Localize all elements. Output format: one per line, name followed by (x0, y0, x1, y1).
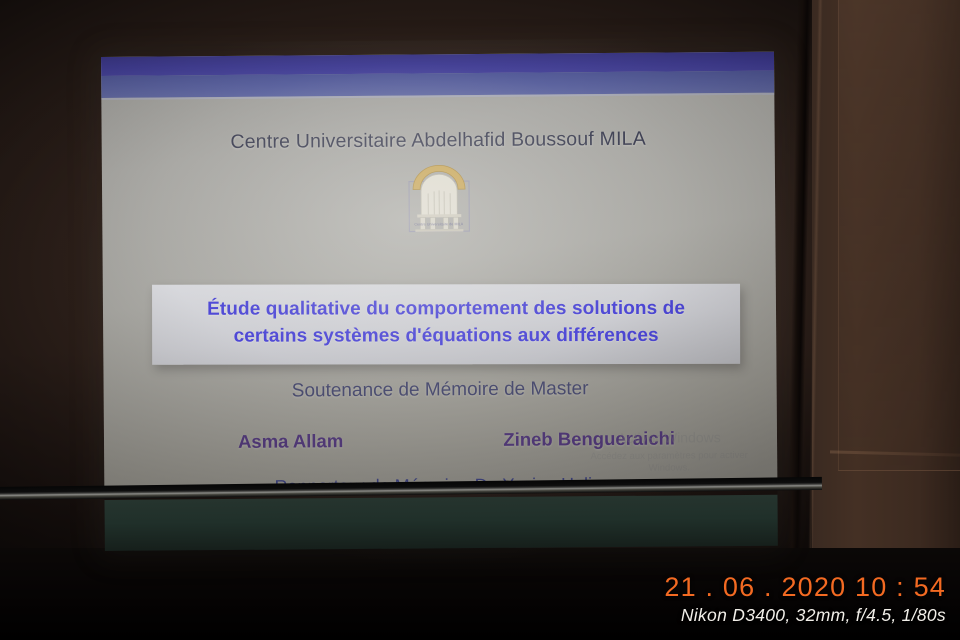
exif-camera-info: Nikon D3400, 32mm, f/4.5, 1/80s (664, 605, 946, 626)
slide-subtitle: Soutenance de Mémoire de Master (104, 377, 777, 404)
exif-timestamp: 21 . 06 . 2020 10 : 54 (664, 572, 946, 603)
university-name: Centre Universitaire Abdelhafid Boussouf… (102, 127, 775, 155)
projection-screen: Centre Universitaire Abdelhafid Boussouf… (101, 52, 778, 551)
slide-title-line-1: Étude qualitative du comportement des so… (168, 296, 724, 324)
screen-lower-area (104, 495, 777, 551)
photograph: Centre Universitaire Abdelhafid Boussouf… (0, 0, 960, 640)
wall-panel (838, 0, 960, 471)
watermark-subtitle: Accédez aux paramètres pour activer Wind… (583, 449, 755, 475)
presenter-names: Asma Allam Zineb Bengueraichi (150, 427, 747, 454)
slide-title-plate: Étude qualitative du comportement des so… (152, 284, 740, 365)
slide-title-line-2: certains systèmes d'équations aux différ… (168, 323, 724, 351)
exif-overlay: 21 . 06 . 2020 10 : 54 Nikon D3400, 32mm… (664, 572, 946, 626)
presenter-name-2: Zineb Bengueraichi (503, 428, 675, 451)
logo-caption: Centre Universitaire de MILA (404, 222, 474, 227)
presentation-slide: Centre Universitaire Abdelhafid Boussouf… (101, 52, 777, 494)
presenter-name-1: Asma Allam (238, 430, 343, 453)
